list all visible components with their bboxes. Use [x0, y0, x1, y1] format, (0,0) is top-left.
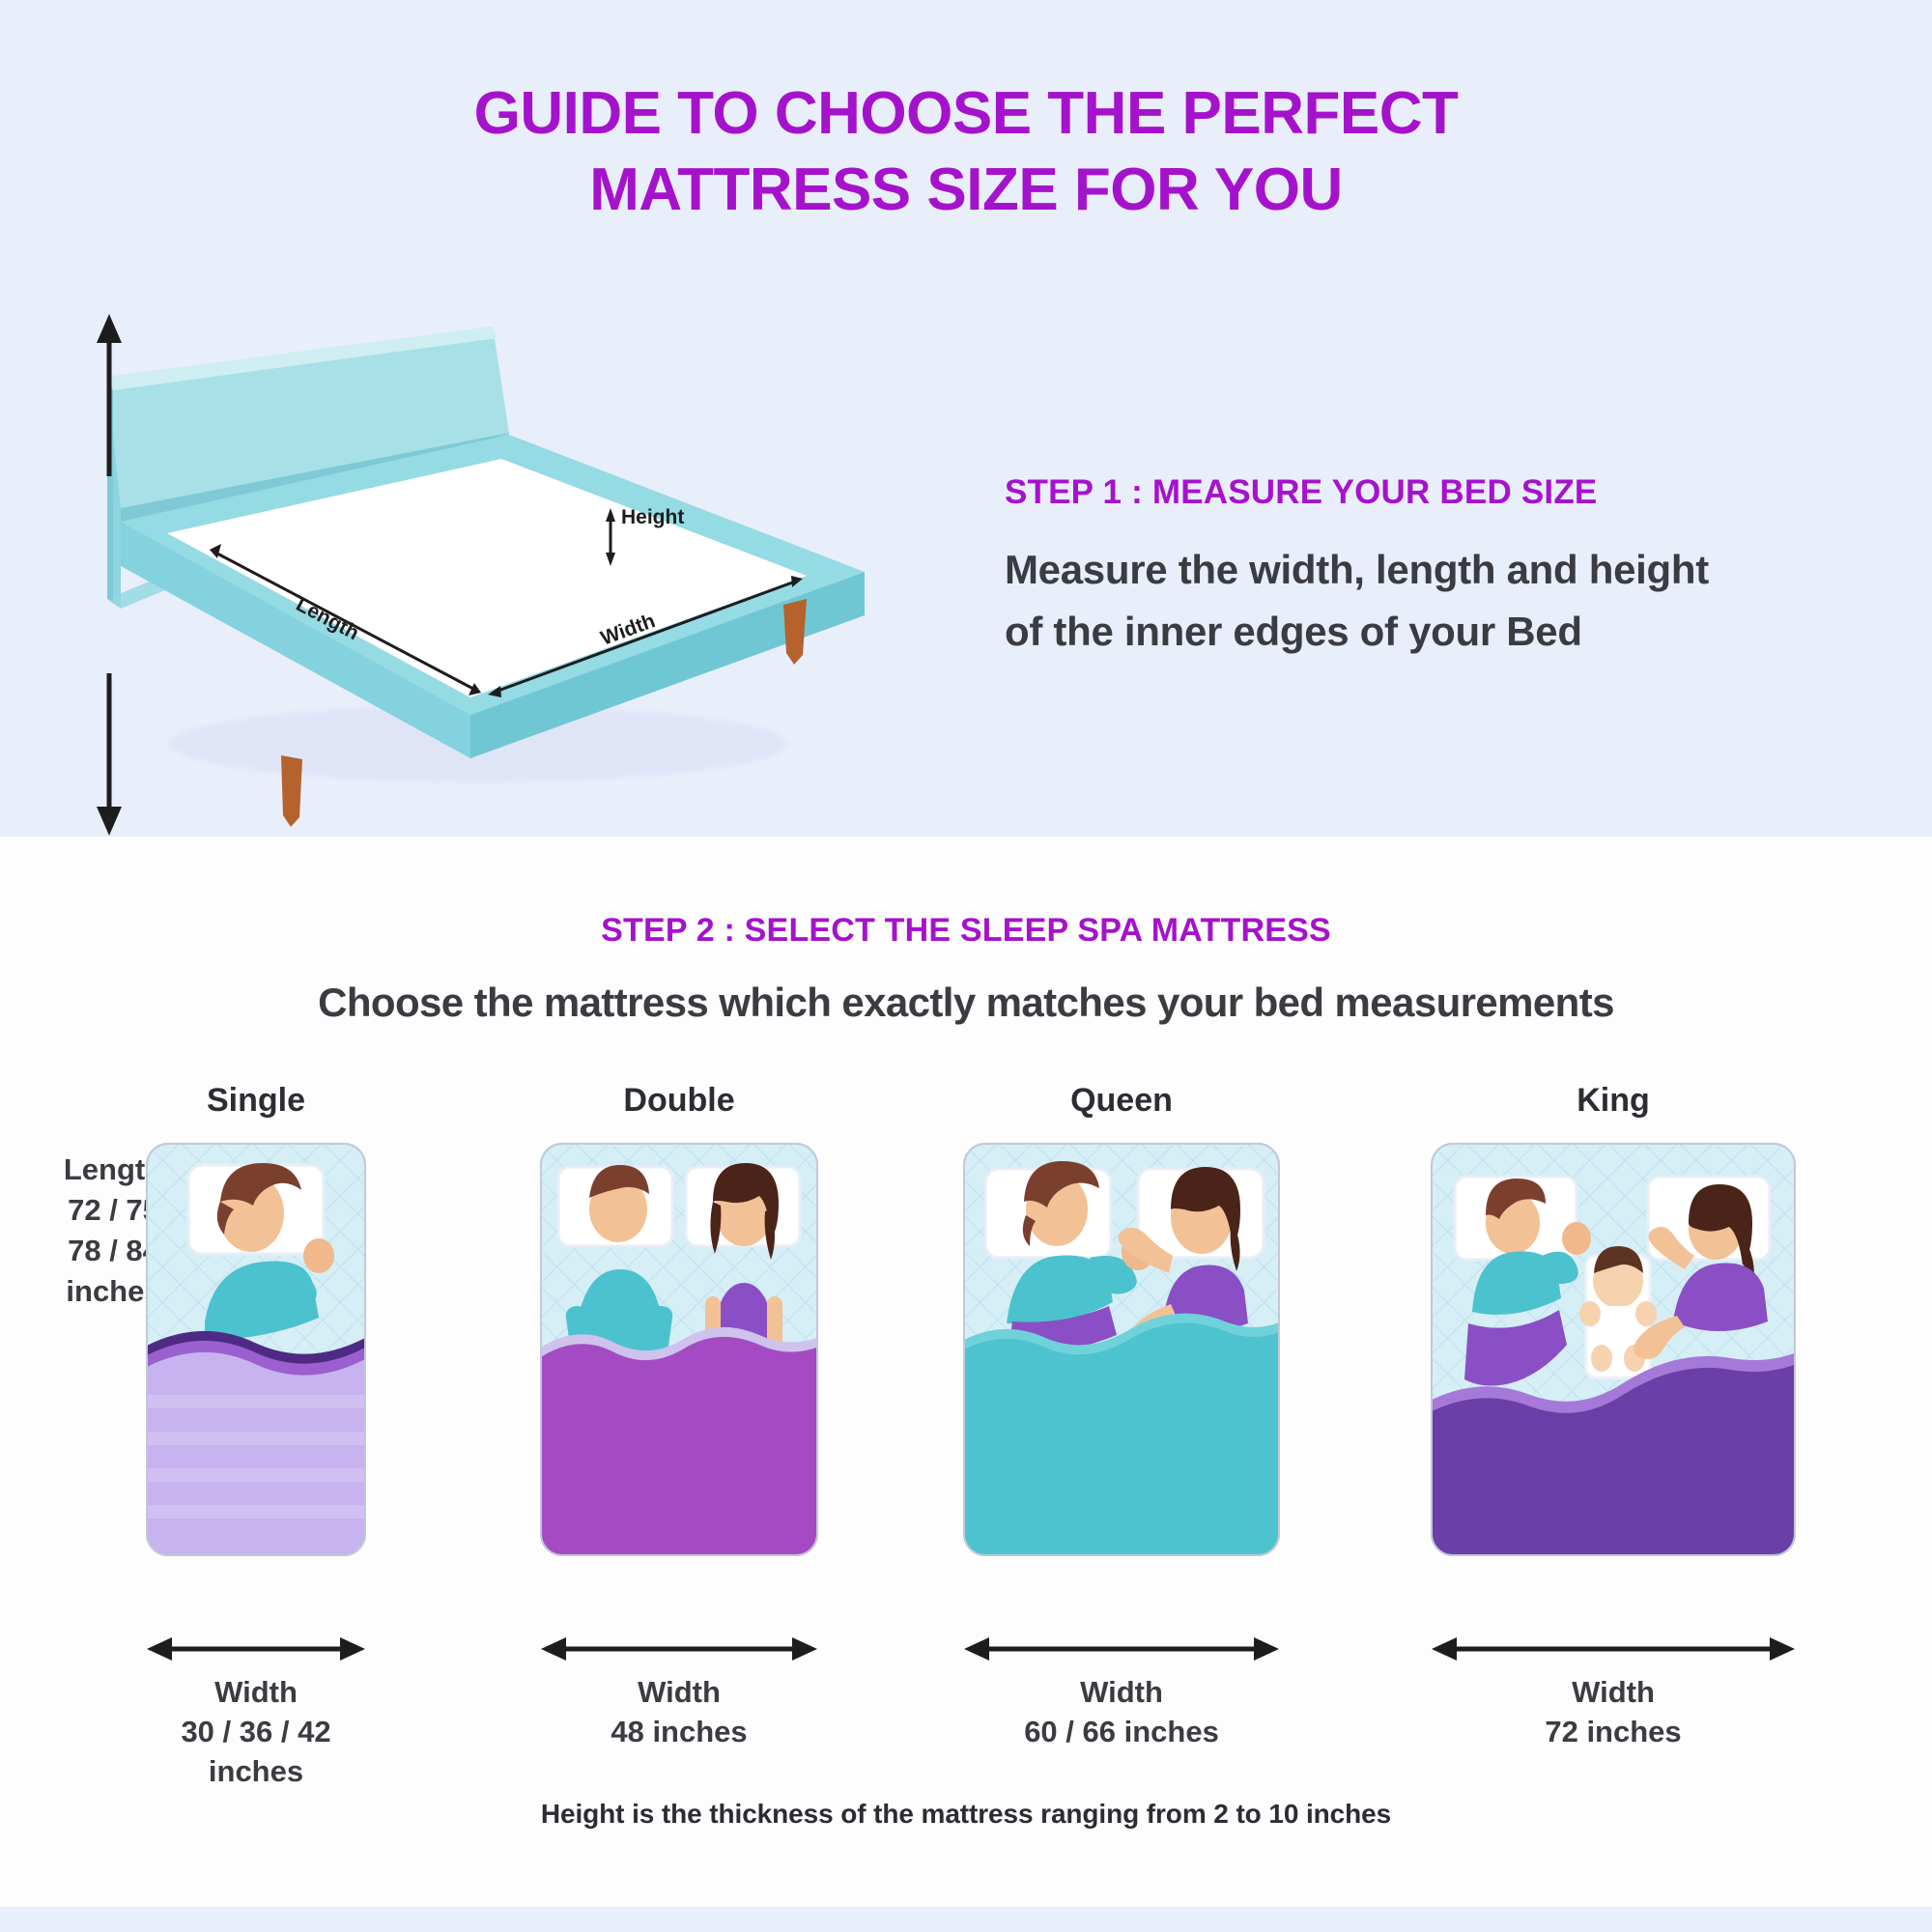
step1-body-line2: of the inner edges of your Bed: [1005, 601, 1855, 663]
width-value-king: 72 inches: [1430, 1713, 1797, 1752]
step1-body: Measure the width, length and height of …: [1005, 539, 1855, 663]
page-title: GUIDE TO CHOOSE THE PERFECT MATTRESS SIZ…: [0, 75, 1932, 229]
width-caption-queen: Width 60 / 66 inches: [962, 1673, 1281, 1752]
mattress-illustration-double: [539, 1142, 819, 1557]
width-unit-single: inches: [145, 1752, 367, 1792]
footer-note: Height is the thickness of the mattress …: [0, 1799, 1932, 1830]
step2-subheading: Choose the mattress which exactly matche…: [0, 980, 1932, 1026]
mattress-name-king: King: [1430, 1082, 1797, 1120]
page-title-line2: MATTRESS SIZE FOR YOU: [0, 152, 1932, 228]
mattress-illustration-queen: [962, 1142, 1281, 1557]
width-value-single: 30 / 36 / 42: [145, 1713, 367, 1752]
width-value-queen: 60 / 66 inches: [962, 1713, 1281, 1752]
step1-heading: STEP 1 : MEASURE YOUR BED SIZE: [1005, 473, 1855, 512]
step1-section: GUIDE TO CHOOSE THE PERFECT MATTRESS SIZ…: [0, 0, 1932, 837]
width-value-double: 48 inches: [539, 1713, 819, 1752]
width-caption-single: Width 30 / 36 / 42 inches: [145, 1673, 367, 1792]
infographic-page: GUIDE TO CHOOSE THE PERFECT MATTRESS SIZ…: [0, 0, 1932, 1932]
length-axis-arrow: [56, 314, 162, 836]
width-word-single: Width: [145, 1673, 367, 1713]
width-arrow-single: [145, 1633, 367, 1665]
width-word-double: Width: [539, 1673, 819, 1713]
width-word-king: Width: [1430, 1673, 1797, 1713]
mattress-illustration-king: [1430, 1142, 1797, 1557]
bed-diagram: Height Length Width: [92, 319, 903, 802]
mattress-name-queen: Queen: [962, 1082, 1281, 1120]
mattress-illustration-single: [145, 1142, 367, 1557]
page-title-line1: GUIDE TO CHOOSE THE PERFECT: [0, 75, 1932, 152]
bottom-strip: [0, 1907, 1932, 1932]
mattress-name-double: Double: [539, 1082, 819, 1120]
step1-text-block: STEP 1 : MEASURE YOUR BED SIZE Measure t…: [1005, 473, 1855, 663]
step2-heading: STEP 2 : SELECT THE SLEEP SPA MATTRESS: [0, 912, 1932, 950]
step1-body-line1: Measure the width, length and height: [1005, 539, 1855, 601]
width-caption-king: Width 72 inches: [1430, 1673, 1797, 1752]
width-arrow-queen: [962, 1633, 1281, 1665]
bed-height-label: Height: [621, 506, 684, 528]
width-arrow-king: [1430, 1633, 1797, 1665]
mattress-name-single: Single: [145, 1082, 367, 1120]
width-caption-double: Width 48 inches: [539, 1673, 819, 1752]
width-word-queen: Width: [962, 1673, 1281, 1713]
width-arrow-double: [539, 1633, 819, 1665]
